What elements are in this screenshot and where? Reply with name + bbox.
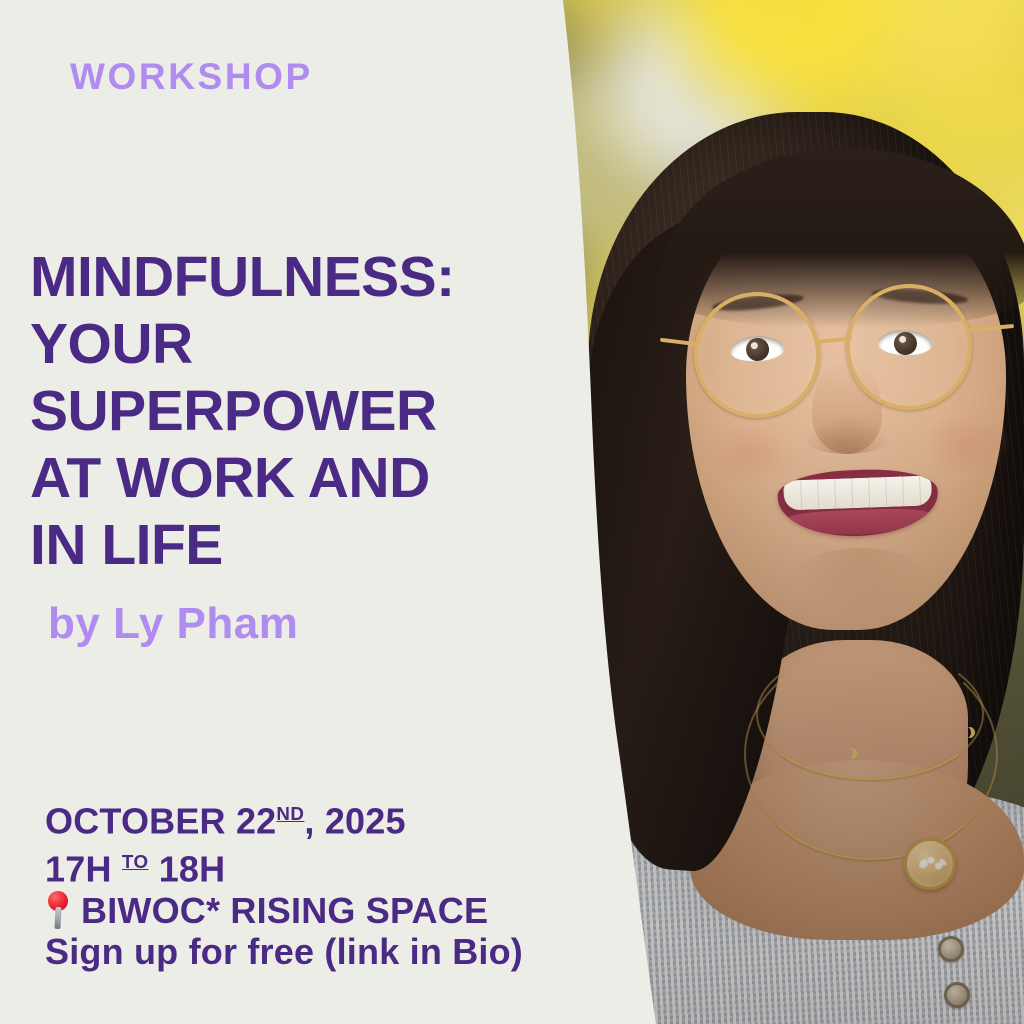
page-title: MINDFULNESS: YOUR SUPERPOWER AT WORK AND… [30, 244, 570, 579]
workshop-poster: WORKSHOP MINDFULNESS: YOUR SUPERPOWER AT… [0, 0, 1024, 1024]
event-date: OCTOBER 22ND, 2025 [45, 793, 523, 841]
eyebrow-label: WORKSHOP [70, 58, 313, 95]
event-date-prefix: OCTOBER 22 [45, 800, 276, 841]
event-details: OCTOBER 22ND, 2025 17H TO 18H BIWOC* RIS… [45, 793, 523, 972]
event-time-end: 18H [159, 849, 226, 890]
title-line-3: SUPERPOWER [30, 378, 570, 445]
event-time: 17H TO 18H [45, 841, 523, 889]
title-line-4: AT WORK AND [30, 445, 570, 512]
title-line-1: MINDFULNESS: [30, 244, 570, 311]
event-venue-label: BIWOC* RISING SPACE [81, 890, 488, 931]
event-date-suffix: , 2025 [304, 800, 405, 841]
title-line-5: IN LIFE [30, 512, 570, 579]
event-venue: BIWOC* RISING SPACE [45, 890, 523, 931]
round-pushpin-icon [45, 891, 71, 929]
speaker-byline: by Ly Pham [48, 602, 298, 646]
title-line-2: YOUR [30, 311, 570, 378]
event-time-connector: TO [122, 851, 149, 872]
event-time-start: 17H [45, 849, 112, 890]
event-date-ordinal: ND [276, 803, 304, 824]
text-column: WORKSHOP MINDFULNESS: YOUR SUPERPOWER AT… [0, 0, 600, 1024]
signup-cta[interactable]: Sign up for free (link in Bio) [45, 931, 523, 972]
pushpin-needle [54, 907, 61, 929]
